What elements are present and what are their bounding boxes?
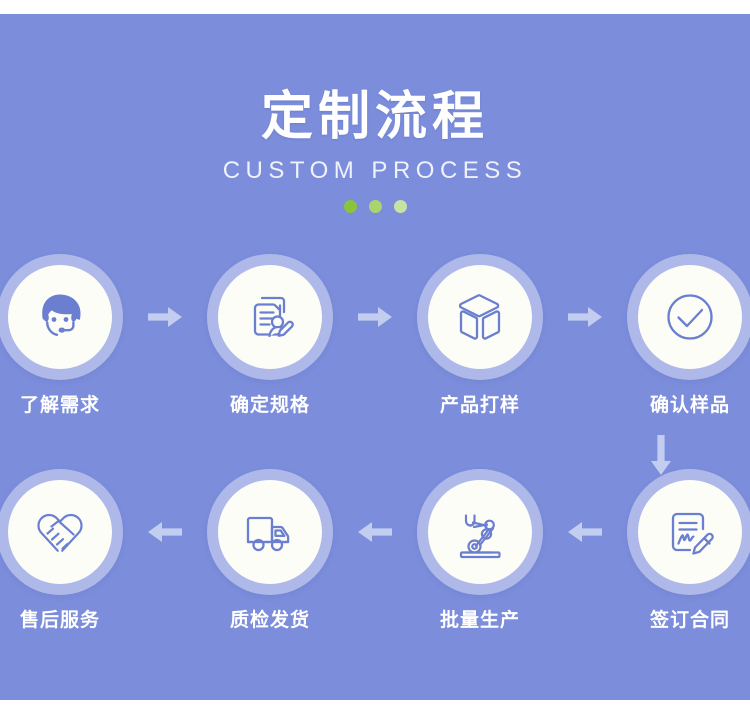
flow-step-1[interactable]: 了解需求 — [0, 254, 146, 415]
dot-2 — [369, 200, 382, 213]
check-circle-icon — [638, 265, 742, 369]
handshake-heart-icon — [8, 480, 112, 584]
arrow-left-icon-1 — [146, 469, 184, 595]
flow-step-2-label: 确定规格 — [230, 396, 310, 415]
page-root: 定制流程 CUSTOM PROCESS — [0, 0, 750, 714]
flow-row-bottom: 售后服务 — [0, 469, 750, 684]
dot-3 — [394, 200, 407, 213]
flow-step-4-bubble — [627, 254, 750, 380]
flow-step-6-bubble — [417, 469, 543, 595]
flow-step-5-label: 签订合同 — [650, 611, 730, 630]
flow-step-8-bubble — [0, 469, 123, 595]
arrow-right-icon-1 — [146, 254, 184, 380]
flow-step-1-bubble — [0, 254, 123, 380]
headset-person-icon — [8, 265, 112, 369]
flow-diagram: 了解需求 — [0, 254, 750, 684]
flow-step-3[interactable]: 产品打样 — [394, 254, 566, 415]
flow-step-5[interactable]: 签订合同 — [604, 469, 750, 630]
arrow-left-icon-3 — [566, 469, 604, 595]
poster-canvas: 定制流程 CUSTOM PROCESS — [0, 14, 750, 700]
flow-step-1-label: 了解需求 — [20, 396, 100, 415]
arrow-right-icon-2 — [356, 254, 394, 380]
flow-step-8[interactable]: 售后服务 — [0, 469, 146, 630]
delivery-truck-icon — [218, 480, 322, 584]
flow-step-3-bubble — [417, 254, 543, 380]
dot-indicator-group — [0, 200, 750, 213]
flow-step-7-label: 质检发货 — [230, 611, 310, 630]
flow-step-7-bubble — [207, 469, 333, 595]
arrow-left-icon-2 — [356, 469, 394, 595]
flow-step-8-label: 售后服务 — [20, 611, 100, 630]
flow-row-top: 了解需求 — [0, 254, 750, 469]
flow-step-2-bubble — [207, 254, 333, 380]
flow-step-6[interactable]: 批量生产 — [394, 469, 566, 630]
page-subtitle: CUSTOM PROCESS — [0, 158, 750, 184]
robot-arm-icon — [428, 480, 532, 584]
page-title: 定制流程 — [0, 88, 750, 148]
flow-step-2[interactable]: 确定规格 — [184, 254, 356, 415]
document-person-pencil-icon — [218, 265, 322, 369]
flow-step-4[interactable]: 确认样品 — [604, 254, 750, 415]
flow-step-3-label: 产品打样 — [440, 396, 520, 415]
flow-step-6-label: 批量生产 — [440, 611, 520, 630]
contract-signature-icon — [638, 480, 742, 584]
flow-step-5-bubble — [627, 469, 750, 595]
header: 定制流程 CUSTOM PROCESS — [0, 88, 750, 213]
flow-step-4-label: 确认样品 — [650, 396, 730, 415]
arrow-right-icon-3 — [566, 254, 604, 380]
cube-box-icon — [428, 265, 532, 369]
flow-step-7[interactable]: 质检发货 — [184, 469, 356, 630]
dot-1 — [344, 200, 357, 213]
